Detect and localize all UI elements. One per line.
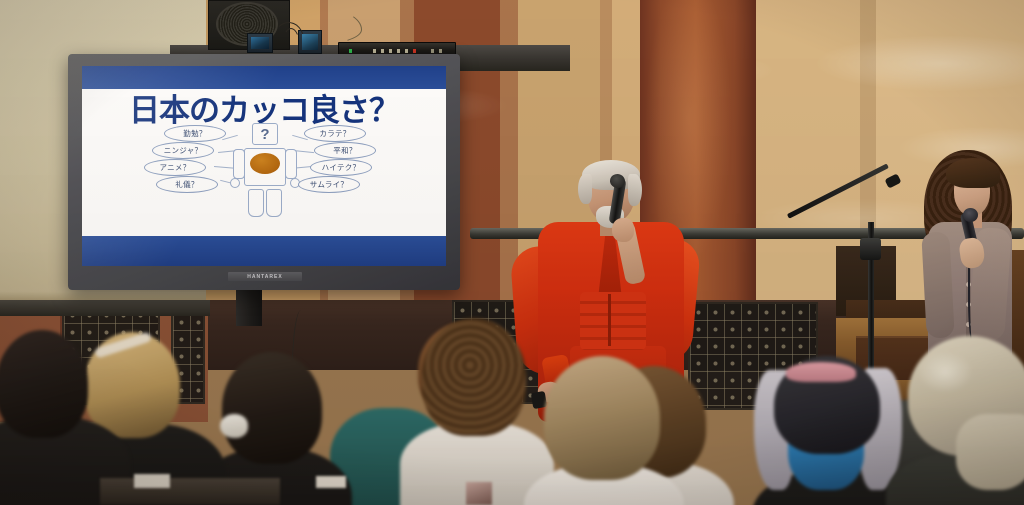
slide-bubble-left: アニメ？ [144,159,206,176]
microphone-head-icon [963,208,978,222]
audience-head [422,318,526,436]
slide-title: 日本のカッコ良さ？ [82,95,446,126]
slide-bubble-left: 礼儀？ [156,176,218,193]
slide-bubble-right: サムライ？ [298,176,360,193]
obi-sash [580,292,646,350]
audience-member [0,330,110,505]
question-robot-figure: ? [234,123,296,219]
monitor-screen[interactable]: 日本のカッコ良さ？ [82,66,446,266]
interpreter-arm-left [921,231,955,338]
pink-hair-highlight [786,362,856,382]
meter-led-icon [431,49,434,53]
speaker-hair-side [578,174,592,204]
wireless-receiver-a [247,33,273,53]
audience-member [524,356,680,505]
question-mark-icon: ? [252,123,278,145]
audience-head [544,356,660,480]
meter-led-icon [439,49,442,53]
monitor-brand-plate: HANTAREX [228,272,302,281]
signal-led-icon [373,49,376,53]
microphone-boom-arm [788,180,886,252]
slide-bubble-left: ニンジャ？ [152,142,214,159]
presentation-slide: 日本のカッコ良さ？ [82,66,446,266]
paper-sheet [134,474,170,488]
audience-head [222,352,322,464]
audience-member [900,336,1024,505]
audience-desk [100,478,280,505]
slide-bottom-band [82,236,446,266]
audience-head [0,330,88,438]
slide-top-band [82,66,446,89]
slide-body: 日本のカッコ良さ？ [82,89,446,236]
signal-led-icon [389,49,392,53]
obi-cord [608,294,611,346]
slide-bubble-right: ハイテク？ [310,159,372,176]
japan-flag-disc-icon [250,153,280,174]
robot-leg-left [248,189,264,217]
slide-bubble-left: 勤勉？ [164,125,226,142]
lower-ledge [0,300,210,316]
robot-hand-left [230,178,240,188]
paper-sheet [316,476,346,488]
hair-clip [220,414,248,438]
clip-led-icon [413,49,416,53]
signal-led-icon [405,49,408,53]
power-led-icon [349,49,352,53]
monitor-brand-label: HANTAREX [247,274,282,280]
monitor-stand [236,290,262,326]
audience-member [406,318,542,505]
handheld-device [466,482,492,505]
lecture-hall-photo: 日本のカッコ良さ？ [0,0,1024,505]
audience-member [752,356,902,505]
presentation-monitor[interactable]: 日本のカッコ良さ？ [68,54,460,290]
receiver-display-icon [251,37,269,49]
signal-led-icon [381,49,384,53]
signal-led-icon [397,49,400,53]
robot-leg-right [266,189,282,217]
slide-bubble-right: 平和？ [314,142,376,159]
interpreter-hair-front [946,158,1000,188]
slide-bubble-right: カラテ？ [304,125,366,142]
speaker-hair-side [628,174,642,206]
robot-arm-right [285,149,297,179]
headscarf-wrap [956,414,1024,490]
speaker-hand-right [612,218,634,242]
